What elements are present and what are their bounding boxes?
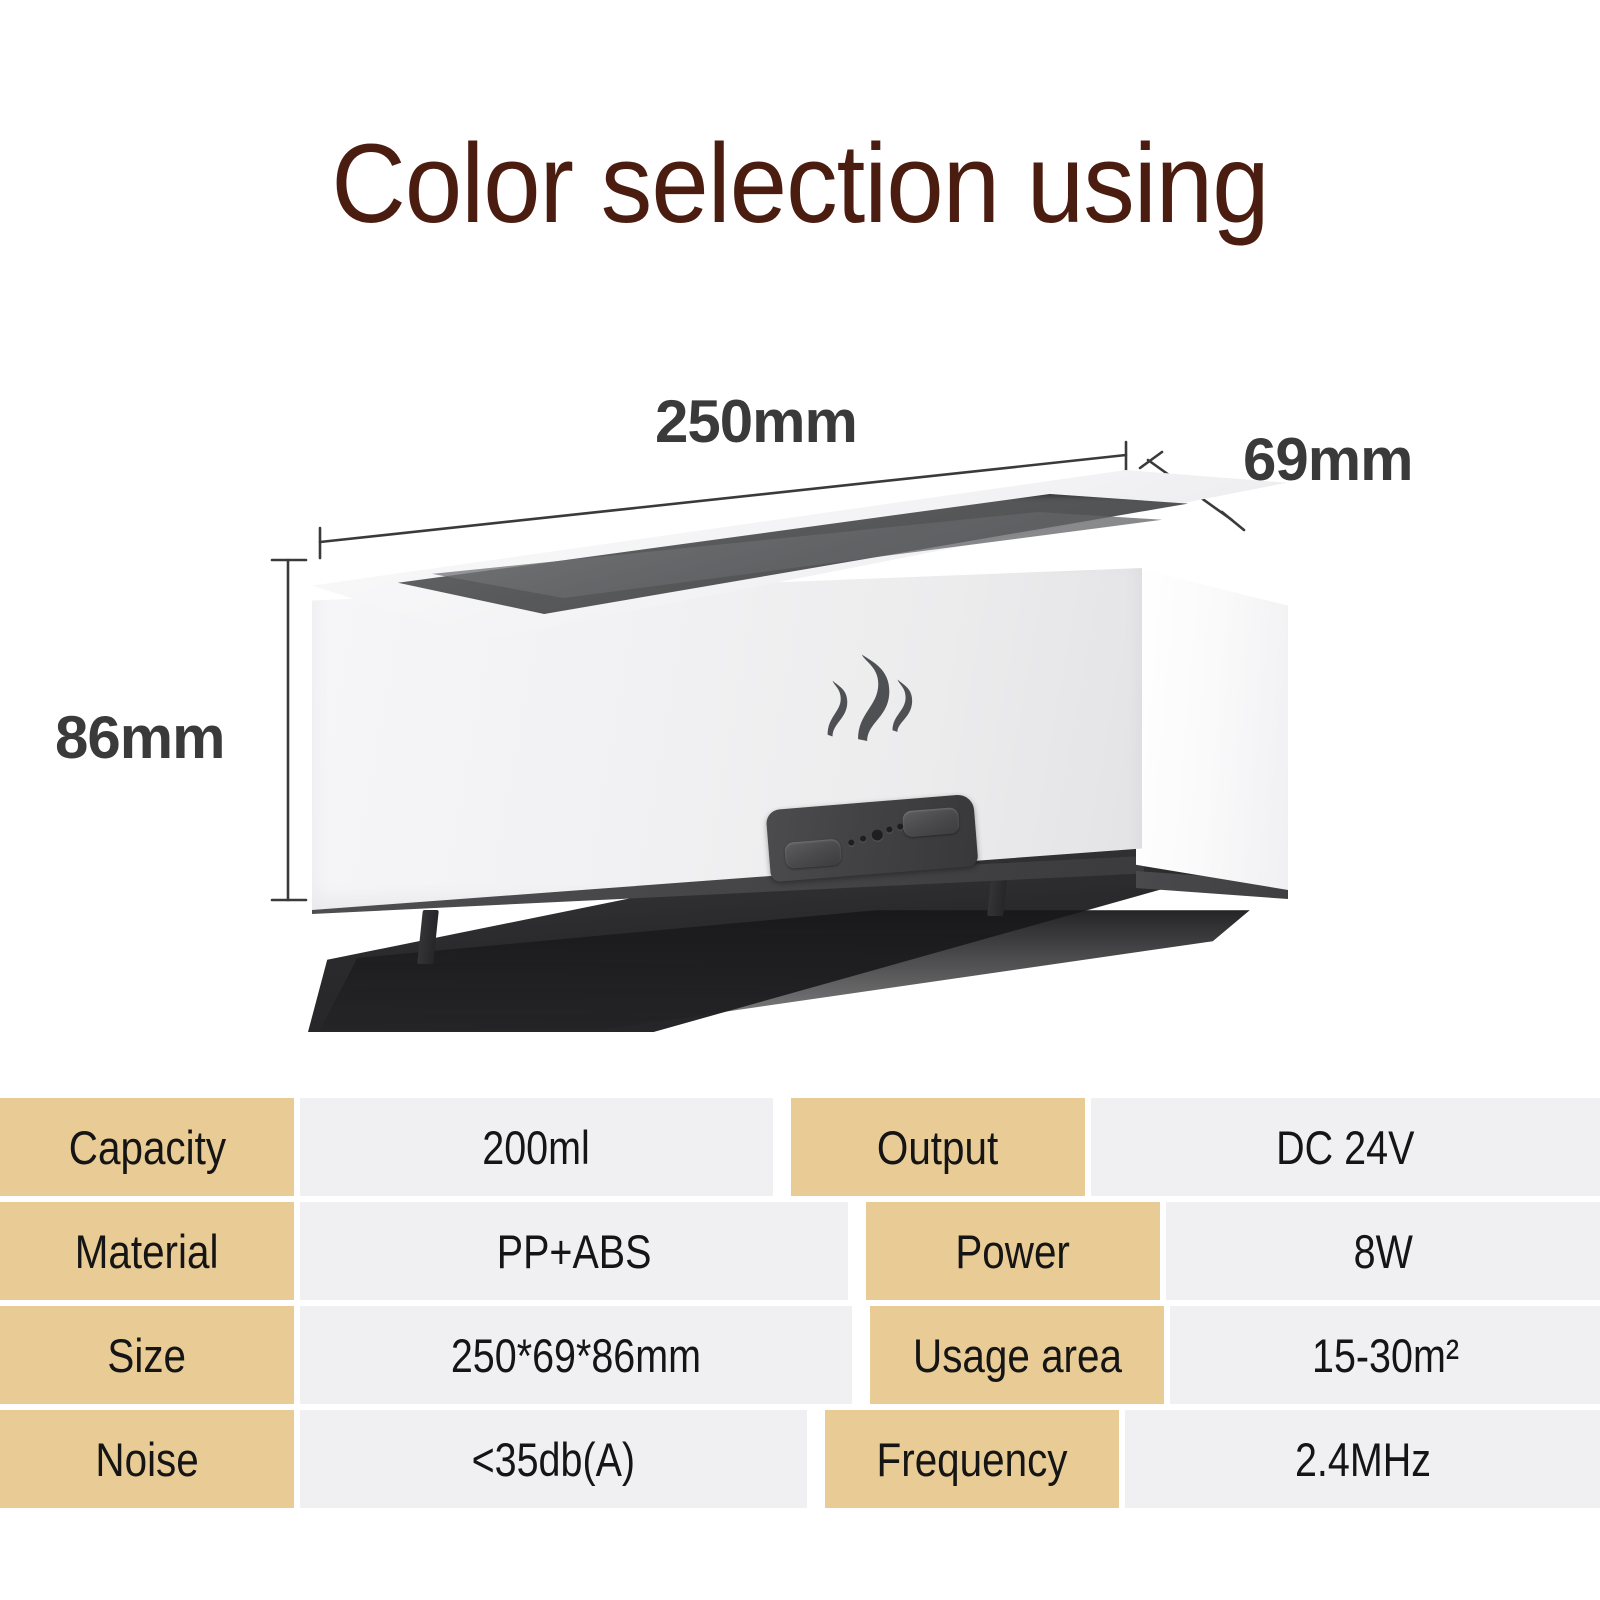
table-row: Noise <35db(A) Frequency 2.4MHz [0,1410,1600,1508]
spec-value-capacity: 200ml [300,1098,773,1196]
page-title: Color selection using [64,128,1536,240]
spec-label-frequency: Frequency [825,1410,1119,1508]
spec-label-noise: Noise [0,1410,294,1508]
led-1 [848,839,854,845]
spec-label-usage-area: Usage area [870,1306,1164,1404]
product-illustration: 250mm 69mm 86mm [0,360,1600,1060]
led-2 [860,835,866,841]
table-row: Capacity 200ml Output DC 24V [0,1098,1600,1196]
spec-label-material: Material [0,1202,294,1300]
spec-label-size: Size [0,1306,294,1404]
humidifier-device [300,470,1300,1030]
column-divider [813,1410,819,1508]
spec-value-power: 8W [1166,1202,1600,1300]
mist-waves-icon [805,630,935,760]
device-side-face [1136,530,1288,890]
spec-value-material: PP+ABS [300,1202,848,1300]
column-divider [858,1306,864,1404]
spec-label-power: Power [866,1202,1160,1300]
led-3 [871,829,883,841]
dimension-label-width: 250mm [655,392,857,452]
power-button[interactable] [784,839,842,869]
specification-table: Capacity 200ml Output DC 24V Material PP… [0,1098,1600,1508]
spec-value-noise: <35db(A) [300,1410,807,1508]
indicator-leds [847,824,903,850]
spec-value-output: DC 24V [1091,1098,1600,1196]
table-row: Size 250*69*86mm Usage area 15-30m² [0,1306,1600,1404]
spec-value-frequency: 2.4MHz [1125,1410,1600,1508]
spec-label-output: Output [791,1098,1085,1196]
dimension-label-height: 86mm [55,708,224,768]
led-4 [886,826,892,832]
table-row: Material PP+ABS Power 8W [0,1202,1600,1300]
column-divider [779,1098,785,1196]
spec-value-size: 250*69*86mm [300,1306,852,1404]
mode-button[interactable] [902,807,960,837]
column-divider [854,1202,860,1300]
spec-label-capacity: Capacity [0,1098,294,1196]
device-base-shadow [320,910,1250,1030]
spec-value-usage-area: 15-30m² [1170,1306,1600,1404]
